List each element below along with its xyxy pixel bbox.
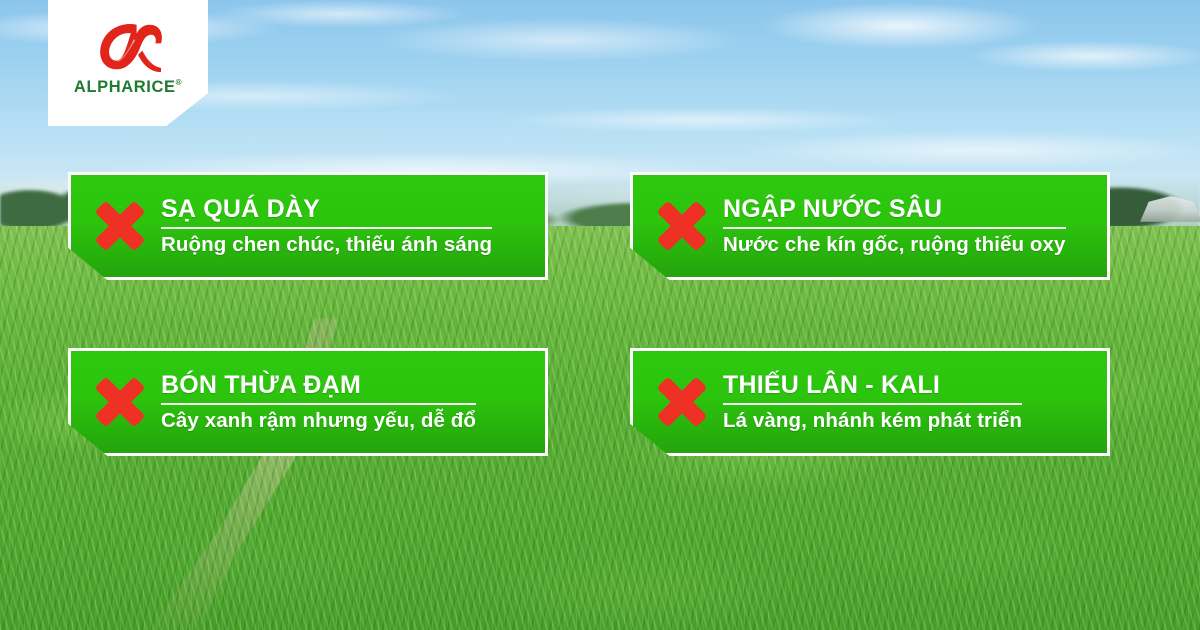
card-divider: [161, 403, 476, 405]
card-title: BÓN THỪA ĐẠM: [161, 371, 476, 399]
card-title: SẠ QUÁ DÀY: [161, 195, 492, 223]
issue-card-ngap-nuoc-sau[interactable]: NGẬP NƯỚC SÂU Nước che kín gốc, ruộng th…: [630, 172, 1110, 280]
card-title: THIẾU LÂN - KALI: [723, 371, 1022, 399]
brand-logo-panel: ALPHARICE®: [48, 0, 208, 126]
infographic-canvas: ALPHARICE® SẠ QUÁ DÀY Ruộng chen chúc, t…: [0, 0, 1200, 630]
issue-card-sa-qua-day[interactable]: SẠ QUÁ DÀY Ruộng chen chúc, thiếu ánh sá…: [68, 172, 548, 280]
red-x-icon: [85, 367, 155, 437]
alpha-rice-logo-icon: [92, 19, 164, 75]
card-divider: [161, 227, 492, 229]
issue-card-thieu-lan-kali[interactable]: THIẾU LÂN - KALI Lá vàng, nhánh kém phát…: [630, 348, 1110, 456]
registered-mark: ®: [176, 78, 183, 87]
card-text-block: THIẾU LÂN - KALI Lá vàng, nhánh kém phát…: [723, 371, 1022, 433]
card-text-block: NGẬP NƯỚC SÂU Nước che kín gốc, ruộng th…: [723, 195, 1066, 257]
card-divider: [723, 227, 1066, 229]
red-x-icon: [647, 367, 717, 437]
red-x-icon: [647, 191, 717, 261]
issue-card-bon-thua-dam[interactable]: BÓN THỪA ĐẠM Cây xanh rậm nhưng yếu, dễ …: [68, 348, 548, 456]
brand-wordmark-text: ALPHARICE: [74, 78, 176, 96]
card-subtitle: Nước che kín gốc, ruộng thiếu oxy: [723, 233, 1066, 257]
red-x-icon: [85, 191, 155, 261]
card-subtitle: Lá vàng, nhánh kém phát triển: [723, 409, 1022, 433]
card-subtitle: Cây xanh rậm nhưng yếu, dễ đổ: [161, 409, 476, 433]
brand-wordmark: ALPHARICE®: [74, 78, 182, 97]
card-text-block: BÓN THỪA ĐẠM Cây xanh rậm nhưng yếu, dễ …: [161, 371, 476, 433]
card-text-block: SẠ QUÁ DÀY Ruộng chen chúc, thiếu ánh sá…: [161, 195, 492, 257]
card-subtitle: Ruộng chen chúc, thiếu ánh sáng: [161, 233, 492, 257]
card-divider: [723, 403, 1022, 405]
card-title: NGẬP NƯỚC SÂU: [723, 195, 1066, 223]
